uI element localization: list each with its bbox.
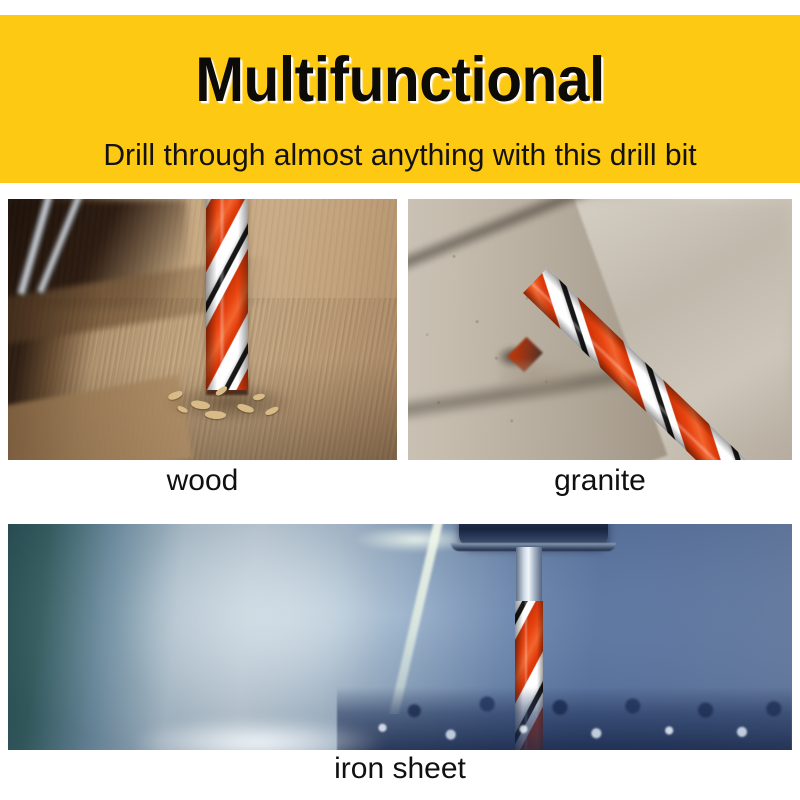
drill-bit xyxy=(206,199,247,390)
caption-iron-sheet: iron sheet xyxy=(8,752,792,786)
caption-wood: wood xyxy=(8,464,397,498)
iron-foreground-highlight xyxy=(133,718,384,750)
drill-bit-left-shading xyxy=(206,199,217,390)
photo-iron-sheet xyxy=(8,524,792,750)
photo-granite xyxy=(408,199,792,460)
header-banner: Multifunctional Drill through almost any… xyxy=(0,15,800,183)
product-feature-banner: Multifunctional Drill through almost any… xyxy=(0,0,800,800)
wood-chip xyxy=(214,385,228,397)
photo-wood xyxy=(8,199,397,460)
wood-chip xyxy=(167,390,183,401)
drill-bit-highlight xyxy=(219,199,226,390)
drill-bit-right-shading xyxy=(238,199,248,390)
metal-chips xyxy=(337,687,792,750)
page-title: Multifunctional xyxy=(28,47,772,113)
drill-bit-body xyxy=(206,199,247,390)
wood-chip xyxy=(191,399,211,411)
wood-chip xyxy=(176,405,188,415)
wood-chip xyxy=(236,402,254,414)
caption-granite: granite xyxy=(408,464,792,498)
wood-chip xyxy=(265,406,280,417)
wood-chip xyxy=(204,410,226,420)
granite-dust xyxy=(500,361,584,398)
wood-shavings xyxy=(156,371,304,428)
background-screws xyxy=(27,199,124,293)
wood-chip xyxy=(253,393,266,401)
page-subtitle: Drill through almost anything with this … xyxy=(12,137,788,173)
